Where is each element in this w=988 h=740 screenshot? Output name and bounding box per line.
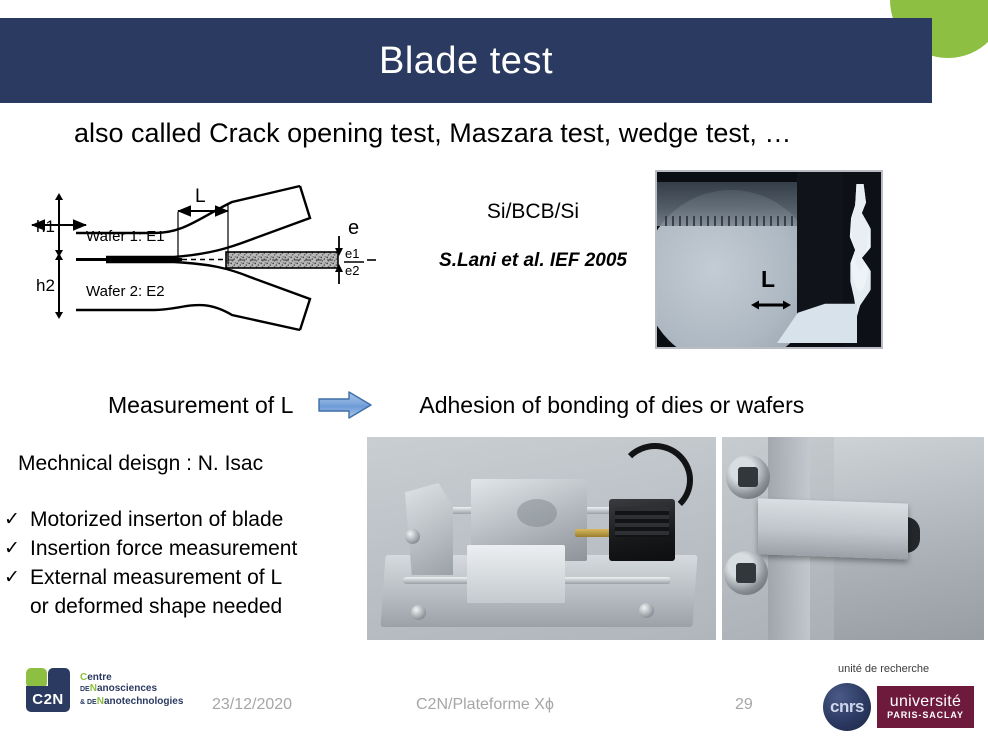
list-item-label: External measurement of L	[30, 563, 282, 592]
schematic-label-e1: e1	[345, 246, 359, 261]
c2n-logo-mark: C2N	[24, 668, 72, 712]
apparatus-sample-block	[467, 545, 565, 603]
right-arrow-icon	[317, 390, 373, 420]
schematic-label-h1: h1	[36, 217, 55, 236]
slide-subtitle: also called Crack opening test, Maszara …	[74, 118, 791, 149]
research-unit-label: unité de recherche	[838, 663, 929, 675]
list-item: ✓ Insertion force measurement	[4, 534, 354, 563]
blade-test-schematic: h1 h2 L e e1 e2 Wafer 1: E1 Wafer 2: E2	[14, 178, 414, 338]
c2n-wordmark-line1: Centre	[80, 672, 183, 684]
cnrs-logo-text: cnrs	[830, 697, 864, 717]
schematic-label-e: e	[348, 217, 359, 239]
blade-test-apparatus-photo	[367, 437, 716, 640]
check-icon: ✓	[4, 563, 30, 592]
flow-right-text: Adhesion of bonding of dies or wafers	[419, 392, 804, 419]
schematic-label-e2: e2	[345, 263, 359, 278]
universite-paris-saclay-logo: université PARIS-SACLAY	[877, 686, 974, 728]
c2n-logo: C2N Centre DENanosciences & DENanotechno…	[24, 668, 183, 712]
blade-closeup-photo	[722, 437, 984, 640]
check-icon: ✓	[4, 505, 30, 534]
check-icon: ✓	[4, 534, 30, 563]
list-item-label: Insertion force measurement	[30, 534, 297, 563]
feature-checklist: ✓ Motorized inserton of blade ✓ Insertio…	[4, 505, 354, 621]
ups-logo-line2: PARIS-SACLAY	[887, 710, 964, 721]
schematic-label-L: L	[195, 186, 206, 207]
sample-caption-block: Si/BCB/Si S.Lani et al. IEF 2005	[418, 200, 648, 272]
ir-measure-label: L	[761, 266, 775, 293]
schematic-label-wafer2: Wafer 2: E2	[86, 283, 165, 300]
apparatus-motor	[609, 499, 675, 561]
page-title: Blade test	[379, 42, 553, 80]
footer-page-number: 29	[735, 696, 753, 714]
list-item: ✓ External measurement of L	[4, 563, 354, 592]
ir-measure-arrow-icon	[751, 299, 791, 311]
cnrs-logo: cnrs	[823, 683, 871, 731]
apparatus-screw	[405, 529, 420, 544]
c2n-navy-square	[48, 668, 70, 688]
schematic-label-h2: h2	[36, 276, 55, 295]
sample-reference-label: S.Lani et al. IEF 2005	[418, 250, 648, 272]
ir-dark-region	[797, 172, 843, 320]
c2n-green-square	[26, 668, 47, 688]
footer-center-text: C2N/Plateforme Xϕ	[416, 696, 554, 714]
footer-date: 23/12/2020	[212, 696, 292, 714]
measurement-flow-row: Measurement of L Adhesion of bonding of …	[108, 388, 804, 422]
c2n-wordmark-line3: & DENanotechnologies	[80, 696, 183, 709]
flow-left-text: Measurement of L	[108, 392, 293, 419]
apparatus-screw	[639, 603, 654, 618]
schematic-label-wafer1: Wafer 1: E1	[86, 228, 165, 245]
apparatus-screw	[411, 605, 426, 620]
list-item-label: Motorized inserton of blade	[30, 505, 283, 534]
c2n-mark-text: C2N	[26, 686, 70, 712]
list-item: ✓ Motorized inserton of blade	[4, 505, 354, 534]
slide-title-bar: Blade test	[0, 18, 932, 103]
c2n-wordmark: Centre DENanosciences & DENanotechnologi…	[80, 672, 183, 709]
blade-element	[758, 498, 908, 559]
mechanical-design-note: Mechnical deisgn : N. Isac	[18, 452, 263, 476]
blade-bolt	[726, 455, 770, 499]
list-item-continuation: or deformed shape needed	[30, 592, 354, 621]
ir-microscope-photo: L	[655, 170, 883, 349]
c2n-wordmark-line2: DENanosciences	[80, 683, 183, 696]
blade-bolt	[724, 551, 768, 595]
ups-logo-line1: université	[890, 693, 961, 710]
sample-stack-label: Si/BCB/Si	[418, 200, 648, 224]
